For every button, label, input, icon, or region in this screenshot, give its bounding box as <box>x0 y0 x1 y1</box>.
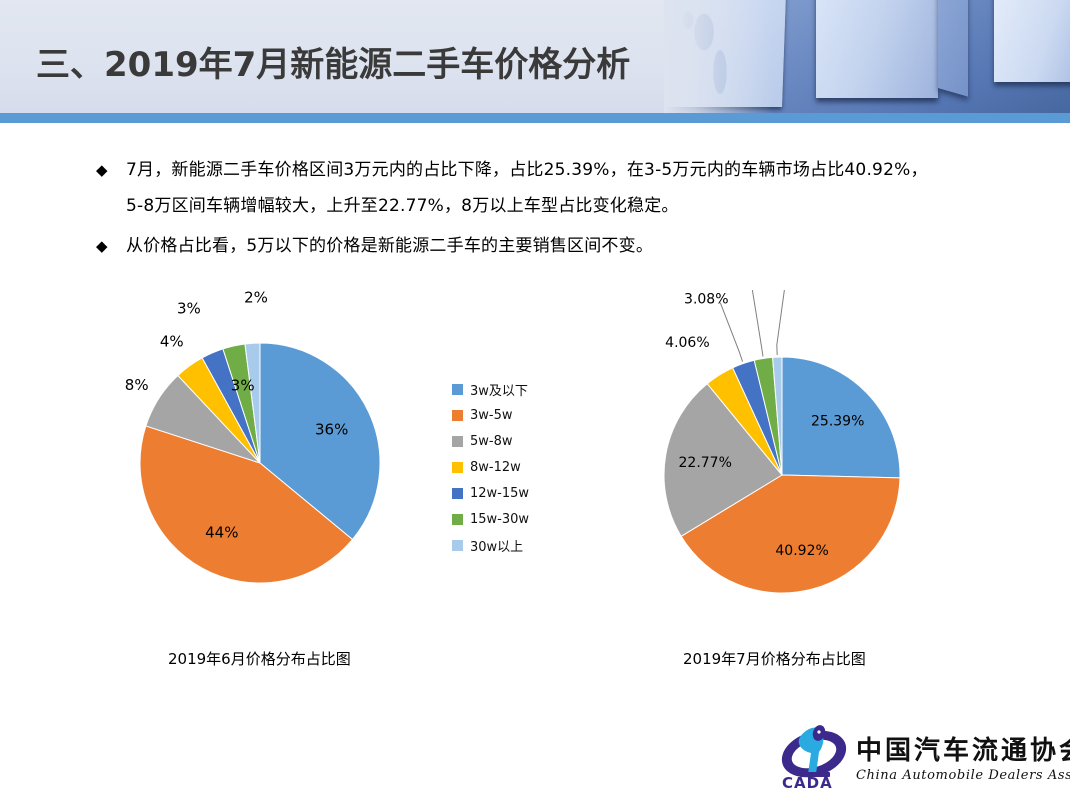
legend-label: 30w以上 <box>470 536 523 555</box>
legend-swatch-icon <box>452 462 463 473</box>
cada-acronym-text: CADA <box>782 774 833 792</box>
legend-item-4: 12w-15w <box>452 480 529 506</box>
legend-swatch-icon <box>452 384 463 395</box>
pie-slice-label: 4% <box>160 333 184 351</box>
legend-label: 3w-5w <box>470 408 513 423</box>
bullet-item: ◆ 7月，新能源二手车价格区间3万元内的占比下降，占比25.39%，在3-5万元… <box>96 152 996 224</box>
cada-logo: CADA 中国汽车流通协会 China Automobile Dealers A… <box>778 720 1060 798</box>
pie-slice-label: 36% <box>315 420 348 438</box>
header-accent-bar <box>0 113 1070 123</box>
legend-label: 8w-12w <box>470 460 521 475</box>
pie-chart-july-svg: 25.39%40.92%22.77%4.06%3.08%2.51%1.27% <box>620 290 1020 680</box>
cube-shape-3 <box>994 0 1070 82</box>
bullet-text-line: 从价格占比看，5万以下的价格是新能源二手车的主要销售区间不变。 <box>126 228 653 264</box>
bullet-item: ◆ 从价格占比看，5万以下的价格是新能源二手车的主要销售区间不变。 <box>96 228 996 264</box>
pie-slice-label: 2% <box>244 290 268 306</box>
page-title: 三、2019年7月新能源二手车价格分析 <box>36 48 630 82</box>
chart-legend: 3w及以下 3w-5w 5w-8w 8w-12w 12w-15w 15w-30w… <box>452 376 529 558</box>
legend-swatch-icon <box>452 436 463 447</box>
header-gradient-fade <box>664 0 772 113</box>
legend-swatch-icon <box>452 488 463 499</box>
cube-shape-2-side <box>938 0 968 97</box>
pie-slice-label: 8% <box>125 376 149 394</box>
pie-slice-label: 3% <box>177 300 201 318</box>
pie-leader-lines-july <box>720 290 786 362</box>
chart-caption-july: 2019年7月价格分布占比图 <box>683 648 866 669</box>
bullet-text-line: 7月，新能源二手车价格区间3万元内的占比下降，占比25.39%，在3-5万元内的… <box>126 152 928 188</box>
header-decoration-image <box>664 0 1070 113</box>
legend-item-2: 5w-8w <box>452 428 529 454</box>
legend-item-5: 15w-30w <box>452 506 529 532</box>
bullet-text-line: 5-8万区间车辆增幅较大，上升至22.77%，8万以上车型占比变化稳定。 <box>126 188 928 224</box>
legend-label: 3w及以下 <box>470 380 528 399</box>
legend-label: 15w-30w <box>470 512 529 527</box>
cada-name-en: China Automobile Dealers Association <box>856 768 1070 783</box>
bullet-list: ◆ 7月，新能源二手车价格区间3万元内的占比下降，占比25.39%，在3-5万元… <box>96 152 996 268</box>
pie-slice-label: 22.77% <box>679 455 732 471</box>
pie-slice-label: 4.06% <box>665 335 709 351</box>
cube-shape-2 <box>816 0 938 98</box>
legend-swatch-icon <box>452 410 463 421</box>
pie-slices-june <box>140 343 380 583</box>
pie-slice-label: 3.08% <box>684 292 728 308</box>
chart-caption-june: 2019年6月价格分布占比图 <box>168 648 351 669</box>
pie-chart-july: 25.39%40.92%22.77%4.06%3.08%2.51%1.27% <box>620 290 1020 680</box>
pie-slice-label: 40.92% <box>775 543 828 559</box>
diamond-bullet-icon: ◆ <box>96 228 126 264</box>
pie-slice-label: 44% <box>205 523 238 541</box>
legend-item-1: 3w-5w <box>452 402 529 428</box>
legend-item-3: 8w-12w <box>452 454 529 480</box>
legend-item-6: 30w以上 <box>452 532 529 558</box>
legend-swatch-icon <box>452 540 463 551</box>
pie-slice-label: 25.39% <box>811 414 864 430</box>
legend-label: 5w-8w <box>470 434 513 449</box>
legend-swatch-icon <box>452 514 463 525</box>
pie-slice-label: 3% <box>231 377 255 395</box>
legend-item-0: 3w及以下 <box>452 376 529 402</box>
diamond-bullet-icon: ◆ <box>96 152 126 188</box>
slide-header: 三、2019年7月新能源二手车价格分析 <box>0 0 1070 113</box>
cada-name-cn: 中国汽车流通协会 <box>856 730 1070 767</box>
legend-label: 12w-15w <box>470 486 529 501</box>
